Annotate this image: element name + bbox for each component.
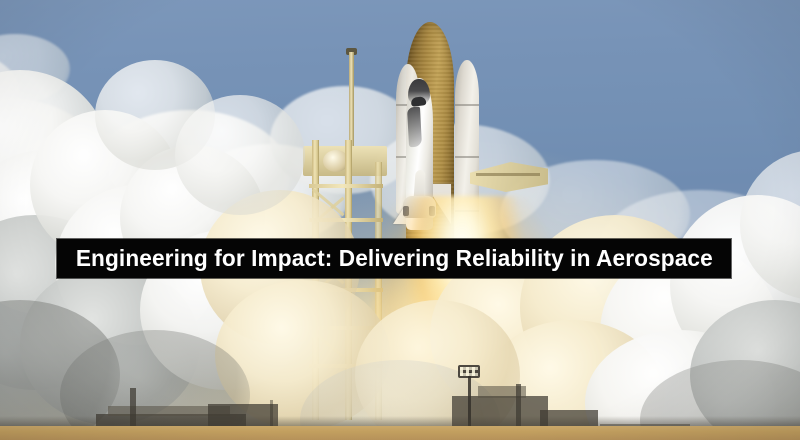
light-tower-head-icon [458, 365, 480, 378]
title-banner: Engineering for Impact: Delivering Relia… [57, 239, 731, 278]
hero-banner: Engineering for Impact: Delivering Relia… [0, 0, 800, 440]
page-title: Engineering for Impact: Delivering Relia… [76, 247, 713, 270]
ground-strip [0, 426, 800, 440]
